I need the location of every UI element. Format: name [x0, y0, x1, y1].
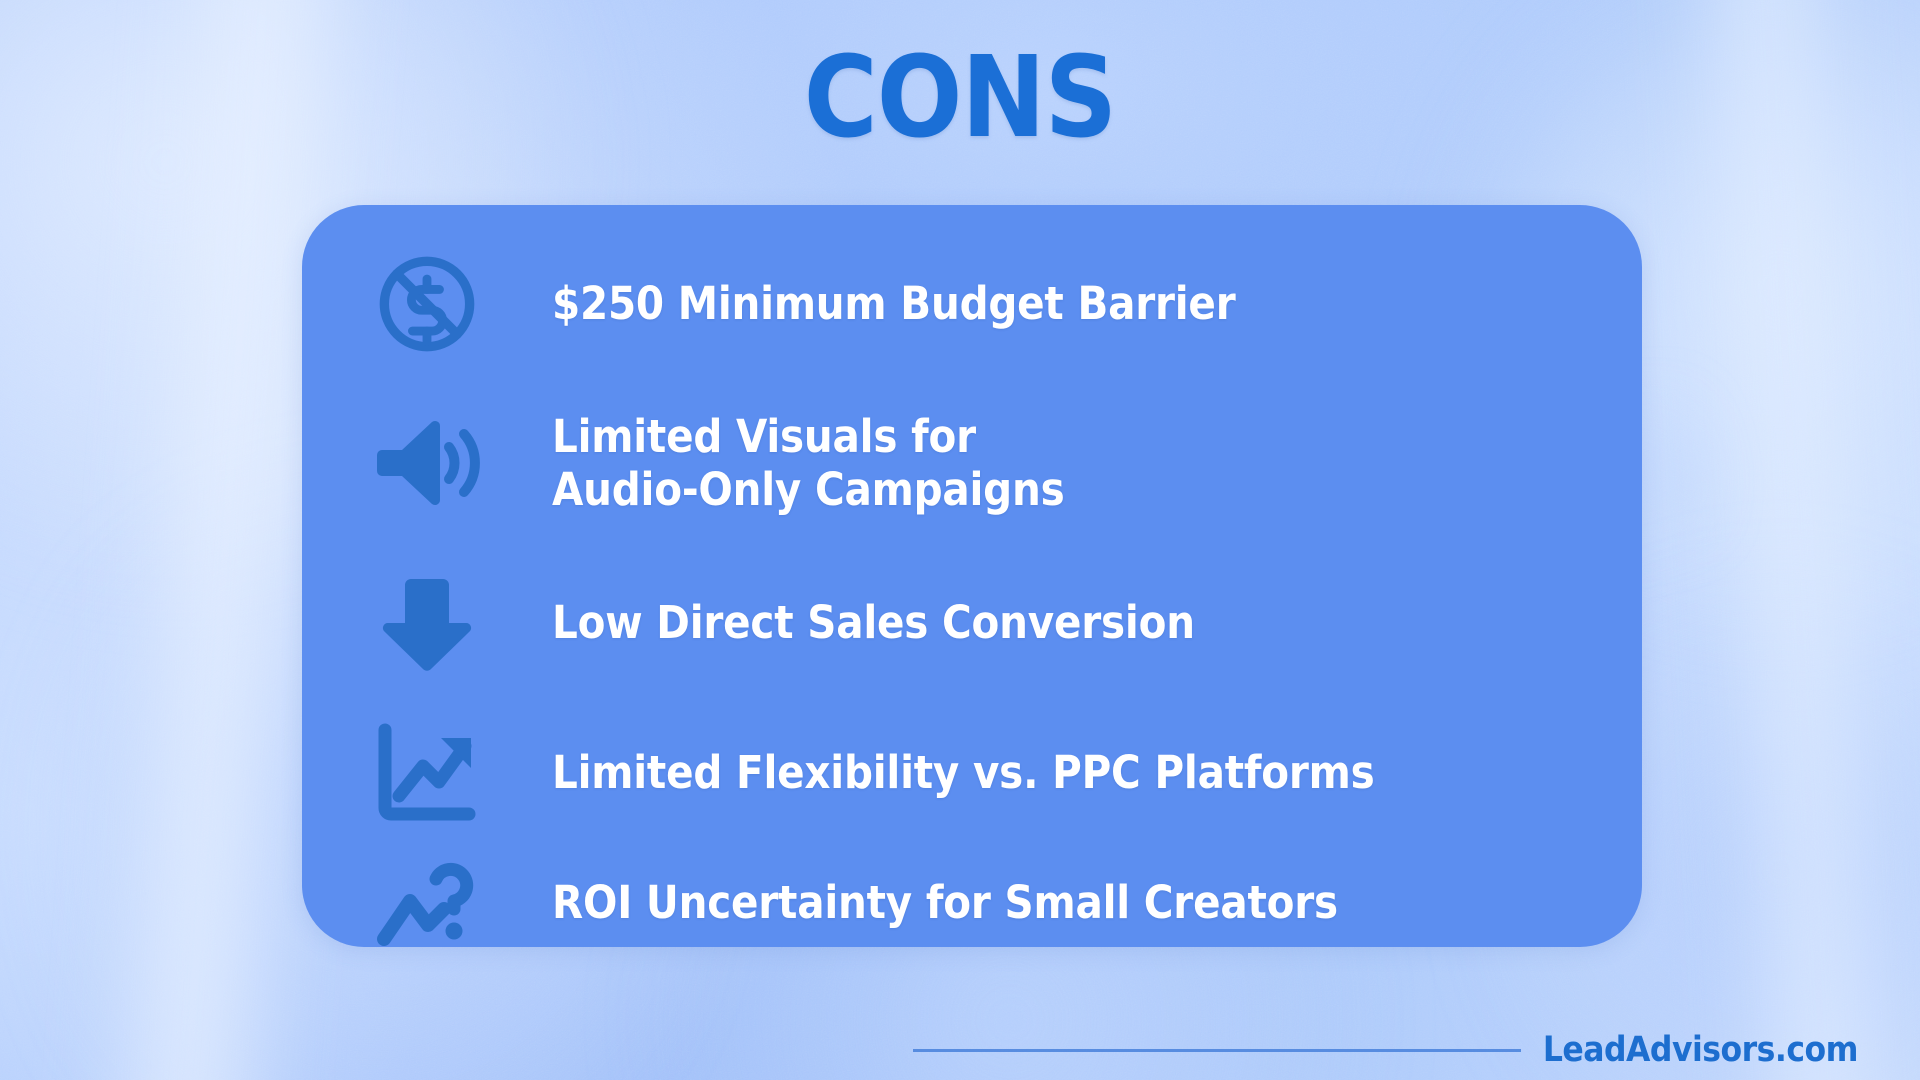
list-item-label: Limited Flexibility vs. PPC Platforms [552, 746, 1642, 799]
list-item[interactable]: Limited Flexibility vs. PPC Platforms [302, 698, 1642, 848]
list-item-label: $250 Minimum Budget Barrier [552, 277, 1642, 330]
cons-list: $250 Minimum Budget Barrier Limited Visu… [302, 205, 1642, 947]
chart-trend-up-icon [302, 722, 552, 824]
list-item[interactable]: Limited Visuals for Audio-Only Campaigns [302, 378, 1642, 548]
list-item-label: Limited Visuals for Audio-Only Campaigns [552, 410, 1642, 516]
footer: LeadAdvisors.com [0, 1020, 1920, 1080]
down-arrow-icon [302, 573, 552, 673]
cons-card: $250 Minimum Budget Barrier Limited Visu… [302, 205, 1642, 947]
page-title: CONS [0, 42, 1920, 154]
list-item[interactable]: Low Direct Sales Conversion [302, 548, 1642, 698]
list-item[interactable]: ROI Uncertainty for Small Creators [302, 828, 1642, 978]
footer-divider [913, 1049, 1521, 1052]
speaker-audio-icon [302, 414, 552, 512]
list-item[interactable]: $250 Minimum Budget Barrier [302, 230, 1642, 378]
list-item-label: ROI Uncertainty for Small Creators [552, 876, 1642, 929]
no-money-icon [302, 252, 552, 356]
uncertain-trend-icon [302, 853, 552, 953]
list-item-label: Low Direct Sales Conversion [552, 596, 1642, 649]
brand-label[interactable]: LeadAdvisors.com [1543, 1030, 1858, 1070]
